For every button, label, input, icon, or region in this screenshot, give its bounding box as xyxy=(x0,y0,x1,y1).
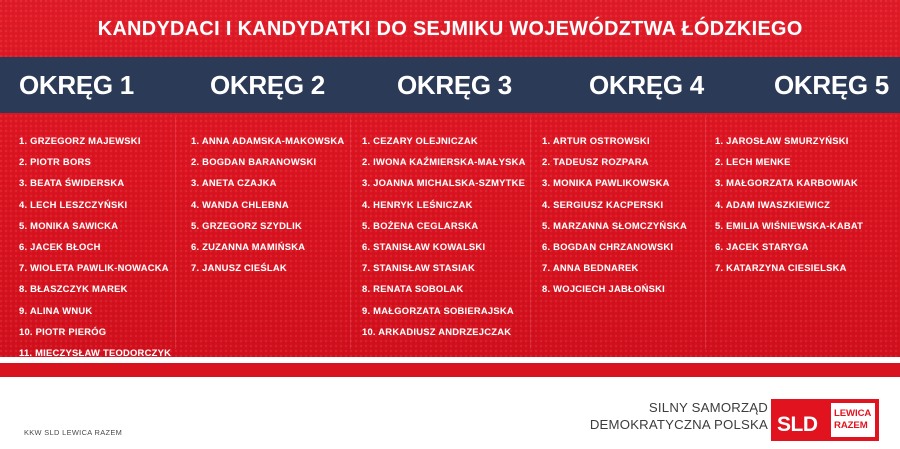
district-header-2: OKRĘG 2 xyxy=(194,72,385,98)
list-item: 8. BŁASZCZYK MAREK xyxy=(19,278,175,299)
list-item: 8. WOJCIECH JABŁOŃSKI xyxy=(542,278,705,299)
list-item: 7. WIOLETA PAWLIK-NOWACKA xyxy=(19,257,175,278)
list-item: 1. GRZEGORZ MAJEWSKI xyxy=(19,130,175,151)
list-item: 8. RENATA SOBOLAK xyxy=(362,278,530,299)
list-item: 5. MONIKA SAWICKA xyxy=(19,215,175,236)
candidate-list-4: 1. ARTUR OSTROWSKI 2. TADEUSZ ROZPARA 3.… xyxy=(542,130,705,300)
candidate-list-3: 1. CEZARY OLEJNICZAK 2. IWONA KAŹMIERSKA… xyxy=(362,130,530,342)
district-label: OKRĘG 3 xyxy=(397,72,512,98)
list-item: 6. ZUZANNA MAMIŃSKA xyxy=(191,236,350,257)
slogan-line-1: SILNY SAMORZĄD xyxy=(590,400,768,417)
list-item: 1. CEZARY OLEJNICZAK xyxy=(362,130,530,151)
list-item: 4. SERGIUSZ KACPERSKI xyxy=(542,194,705,215)
lewica-text: LEWICA xyxy=(834,408,871,420)
district-label: OKRĘG 1 xyxy=(19,72,134,98)
list-item: 3. MONIKA PAWLIKOWSKA xyxy=(542,172,705,193)
poster-title-bar: KANDYDACI I KANDYDATKI DO SEJMIKU WOJEWÓ… xyxy=(0,0,900,57)
list-item: 6. BOGDAN CHRZANOWSKI xyxy=(542,236,705,257)
lewica-razem-box: LEWICA RAZEM xyxy=(831,403,875,437)
list-item: 5. GRZEGORZ SZYDLIK xyxy=(191,215,350,236)
list-item: 7. JANUSZ CIEŚLAK xyxy=(191,257,350,278)
list-item: 5. BOŻENA CEGLARSKA xyxy=(362,215,530,236)
committee-label: KKW SLD LEWICA RAZEM xyxy=(24,428,122,437)
list-item: 3. JOANNA MICHALSKA-SZMYTKE xyxy=(362,172,530,193)
district-header-band: OKRĘG 1 OKRĘG 2 OKRĘG 3 OKRĘG 4 OKRĘG 5 xyxy=(0,57,900,113)
district-header-1: OKRĘG 1 xyxy=(0,72,194,98)
candidate-column-1: 1. GRZEGORZ MAJEWSKI 2. PIOTR BORS 3. BE… xyxy=(0,113,175,357)
list-item: 4. ADAM IWASZKIEWICZ xyxy=(715,194,880,215)
district-header-5: OKRĘG 5 xyxy=(764,72,900,98)
candidate-column-4: 1. ARTUR OSTROWSKI 2. TADEUSZ ROZPARA 3.… xyxy=(530,113,705,357)
list-item: 5. MARZANNA SŁOMCZYŃSKA xyxy=(542,215,705,236)
list-item: 9. ALINA WNUK xyxy=(19,300,175,321)
list-item: 1. JAROSŁAW SMURZYŃSKI xyxy=(715,130,880,151)
district-header-3: OKRĘG 3 xyxy=(385,72,577,98)
list-item: 5. EMILIA WIŚNIEWSKA-KABAT xyxy=(715,215,880,236)
list-item: 7. STANISŁAW STASIAK xyxy=(362,257,530,278)
list-item: 2. LECH MENKE xyxy=(715,151,880,172)
campaign-slogan: SILNY SAMORZĄD DEMOKRATYCZNA POLSKA xyxy=(590,400,768,433)
list-item: 1. ANNA ADAMSKA-MAKOWSKA xyxy=(191,130,350,151)
list-item: 7. ANNA BEDNAREK xyxy=(542,257,705,278)
district-label: OKRĘG 2 xyxy=(210,72,325,98)
list-item: 3. ANETA CZAJKA xyxy=(191,172,350,193)
list-item: 9. MAŁGORZATA SOBIERAJSKA xyxy=(362,300,530,321)
list-item: 1. ARTUR OSTROWSKI xyxy=(542,130,705,151)
list-item: 4. HENRYK LEŚNICZAK xyxy=(362,194,530,215)
list-item: 10. ARKADIUSZ ANDRZEJCZAK xyxy=(362,321,530,342)
candidate-column-3: 1. CEZARY OLEJNICZAK 2. IWONA KAŹMIERSKA… xyxy=(350,113,530,357)
candidate-list-2: 1. ANNA ADAMSKA-MAKOWSKA 2. BOGDAN BARAN… xyxy=(191,130,350,278)
red-accent-stripe xyxy=(0,363,900,377)
district-header-4: OKRĘG 4 xyxy=(577,72,764,98)
list-item: 2. BOGDAN BARANOWSKI xyxy=(191,151,350,172)
candidate-list-1: 1. GRZEGORZ MAJEWSKI 2. PIOTR BORS 3. BE… xyxy=(19,130,175,363)
candidate-list-5: 1. JAROSŁAW SMURZYŃSKI 2. LECH MENKE 3. … xyxy=(715,130,880,278)
slogan-line-2: DEMOKRATYCZNA POLSKA xyxy=(590,417,768,434)
sld-wordmark: SLD xyxy=(771,405,818,435)
list-item: 7. KATARZYNA CIESIELSKA xyxy=(715,257,880,278)
district-label: OKRĘG 5 xyxy=(774,72,889,98)
list-item: 4. WANDA CHLEBNA xyxy=(191,194,350,215)
list-item: 3. BEATA ŚWIDERSKA xyxy=(19,172,175,193)
campaign-poster: KANDYDACI I KANDYDATKI DO SEJMIKU WOJEWÓ… xyxy=(0,0,900,449)
candidate-columns: 1. GRZEGORZ MAJEWSKI 2. PIOTR BORS 3. BE… xyxy=(0,113,900,357)
candidate-column-5: 1. JAROSŁAW SMURZYŃSKI 2. LECH MENKE 3. … xyxy=(705,113,880,357)
list-item: 6. JACEK STARYGA xyxy=(715,236,880,257)
list-item: 6. STANISŁAW KOWALSKI xyxy=(362,236,530,257)
list-item: 4. LECH LESZCZYŃSKI xyxy=(19,194,175,215)
page-title: KANDYDACI I KANDYDATKI DO SEJMIKU WOJEWÓ… xyxy=(98,17,803,41)
list-item: 3. MAŁGORZATA KARBOWIAK xyxy=(715,172,880,193)
district-label: OKRĘG 4 xyxy=(589,72,704,98)
list-item: 10. PIOTR PIERÓG xyxy=(19,321,175,342)
list-item: 2. PIOTR BORS xyxy=(19,151,175,172)
razem-text: RAZEM xyxy=(834,420,868,432)
sld-logo: SLD LEWICA RAZEM xyxy=(771,399,879,441)
list-item: 2. TADEUSZ ROZPARA xyxy=(542,151,705,172)
list-item: 2. IWONA KAŹMIERSKA-MAŁYSKA xyxy=(362,151,530,172)
list-item: 6. JACEK BŁOCH xyxy=(19,236,175,257)
candidate-column-2: 1. ANNA ADAMSKA-MAKOWSKA 2. BOGDAN BARAN… xyxy=(175,113,350,357)
